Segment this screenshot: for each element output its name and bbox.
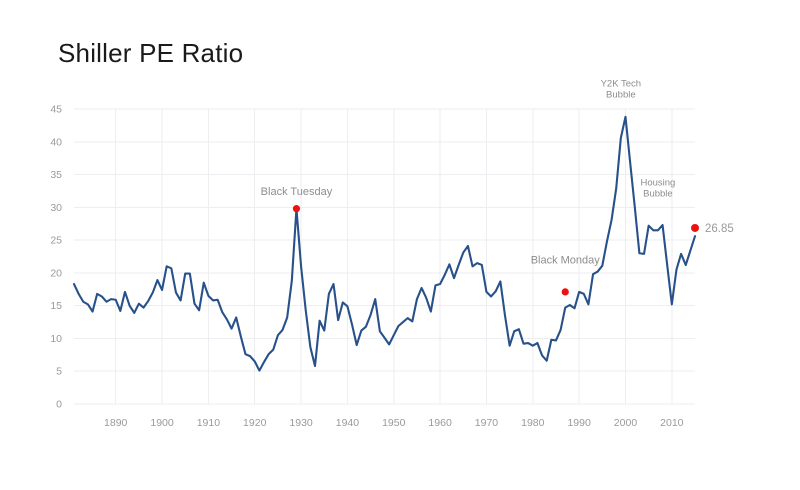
horizontal-gridlines <box>74 109 695 404</box>
y-axis-tick-label: 10 <box>50 333 62 345</box>
end-value-text: 26.85 <box>705 223 734 235</box>
y-axis-tick-label: 0 <box>56 399 62 411</box>
x-axis-tick-label: 1900 <box>150 417 174 429</box>
x-axis-tick-label: 1980 <box>521 417 545 429</box>
y-axis-tick-labels: 051015202530354045 <box>50 104 62 411</box>
x-axis-tick-label: 2000 <box>614 417 638 429</box>
annotation-label: Black Tuesday <box>261 186 333 198</box>
x-axis-tick-label: 2010 <box>660 417 684 429</box>
chart-annotations: Black TuesdayBlack MondayY2K TechBubbleH… <box>261 79 676 267</box>
annotation-label: Housing <box>640 178 675 189</box>
x-axis-tick-label: 1950 <box>382 417 406 429</box>
x-axis-tick-label: 1960 <box>428 417 452 429</box>
y-axis-tick-label: 5 <box>56 366 62 378</box>
x-axis-tick-label: 1890 <box>104 417 128 429</box>
y-axis-tick-label: 25 <box>50 235 62 247</box>
chart-container: Shiller PE Ratio 051015202530354045 1890… <box>0 0 800 490</box>
annotation-label: Y2K Tech <box>601 79 642 90</box>
annotation-label: Bubble <box>606 90 636 101</box>
x-axis-tick-labels: 1890190019101920193019401950196019701980… <box>104 417 684 429</box>
data-point-marker <box>293 205 300 212</box>
shiller-pe-series-line <box>74 117 695 371</box>
end-point-marker <box>691 224 699 232</box>
x-axis-tick-label: 1920 <box>243 417 267 429</box>
x-axis-tick-label: 1910 <box>197 417 221 429</box>
x-axis-tick-label: 1970 <box>475 417 499 429</box>
y-axis-tick-label: 15 <box>50 300 62 312</box>
end-value-label: 26.85 <box>705 223 734 235</box>
annotation-label: Black Monday <box>531 255 601 267</box>
x-axis-tick-label: 1930 <box>289 417 313 429</box>
y-axis-tick-label: 20 <box>50 267 62 279</box>
y-axis-tick-label: 40 <box>50 136 62 148</box>
line-chart-plot: 051015202530354045 189019001910192019301… <box>0 0 800 490</box>
x-axis-tick-label: 1990 <box>567 417 591 429</box>
y-axis-tick-label: 30 <box>50 202 62 214</box>
series-line-shiller-pe <box>74 117 695 371</box>
y-axis-tick-label: 45 <box>50 104 62 116</box>
annotation-label: Bubble <box>643 189 673 200</box>
y-axis-tick-label: 35 <box>50 169 62 181</box>
x-axis-tick-label: 1940 <box>336 417 360 429</box>
data-point-marker <box>562 288 569 295</box>
